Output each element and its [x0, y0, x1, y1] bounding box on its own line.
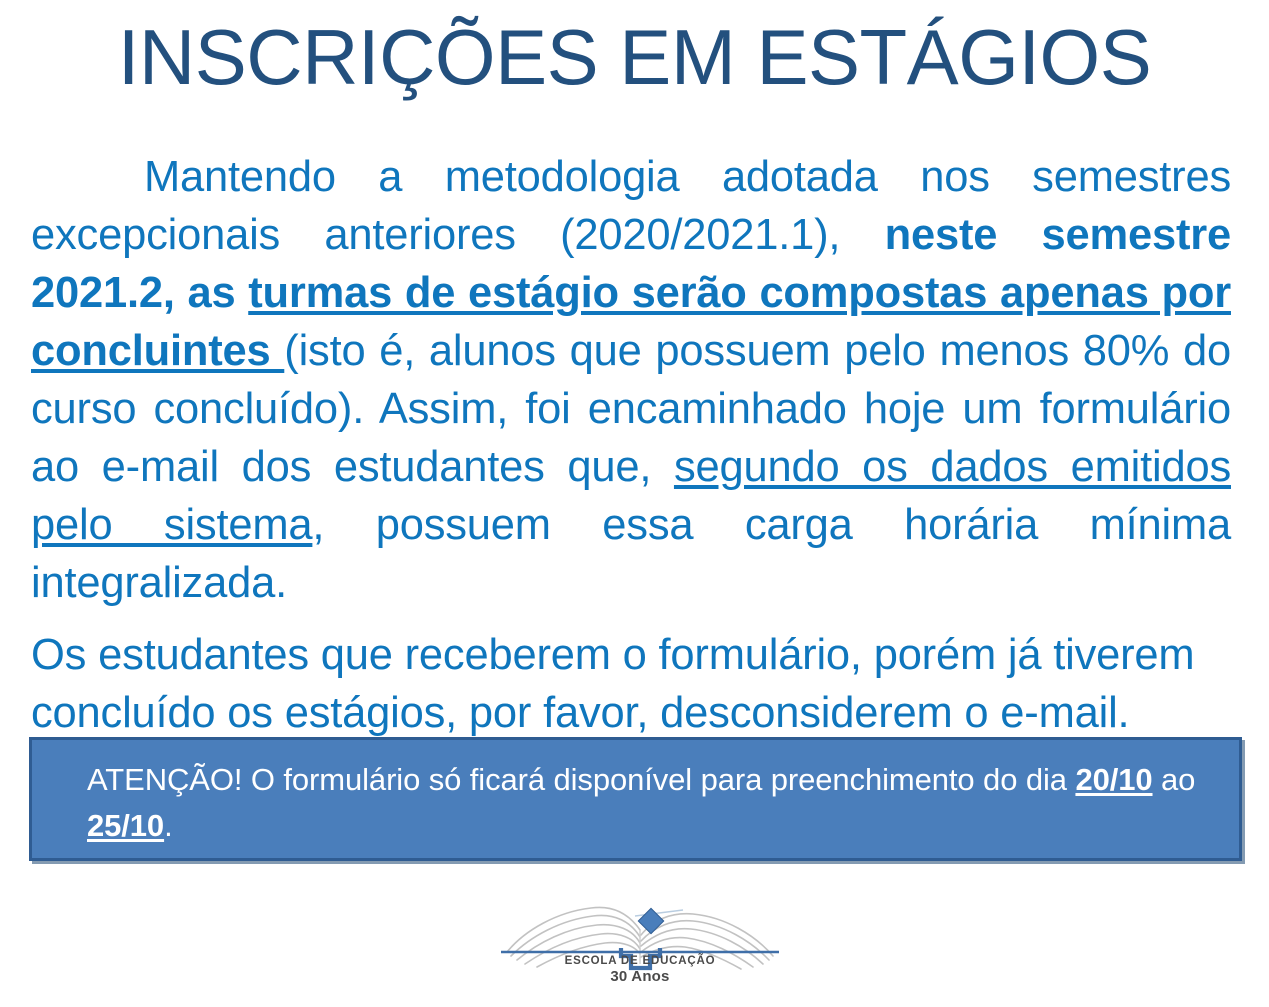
- open-book-icon: [495, 886, 785, 1004]
- attention-callout-box: ATENÇÃO! O formulário só ficará disponív…: [29, 737, 1242, 861]
- paragraph-main: Mantendo a metodologia adotada nos semes…: [31, 148, 1231, 612]
- open-book-logo: ESCOLA DE EDUCAÇÃO 30 Anos: [495, 886, 785, 1004]
- attention-run-plain-2: ao: [1153, 762, 1196, 797]
- attention-text: ATENÇÃO! O formulário só ficará disponív…: [87, 757, 1215, 849]
- logo-caption-line-1: ESCOLA DE EDUCAÇÃO: [495, 954, 785, 968]
- logo-caption: ESCOLA DE EDUCAÇÃO 30 Anos: [495, 954, 785, 985]
- logo-caption-line-2: 30 Anos: [495, 968, 785, 985]
- run-plain-4: Os estudantes que receberem o formulário…: [31, 631, 1194, 737]
- diamond-icon: [638, 908, 663, 933]
- slide-canvas: INSCRIÇÕES EM ESTÁGIOS Mantendo a metodo…: [0, 0, 1269, 1007]
- attention-run-plain-1: ATENÇÃO! O formulário só ficará disponív…: [87, 762, 1075, 797]
- attention-end-date: 25/10: [87, 808, 164, 843]
- page-title: INSCRIÇÕES EM ESTÁGIOS: [0, 6, 1269, 108]
- attention-run-plain-3: .: [164, 808, 173, 843]
- attention-start-date: 20/10: [1075, 762, 1152, 797]
- body-content: Mantendo a metodologia adotada nos semes…: [31, 148, 1231, 742]
- paragraph-secondary: Os estudantes que receberem o formulário…: [31, 626, 1231, 742]
